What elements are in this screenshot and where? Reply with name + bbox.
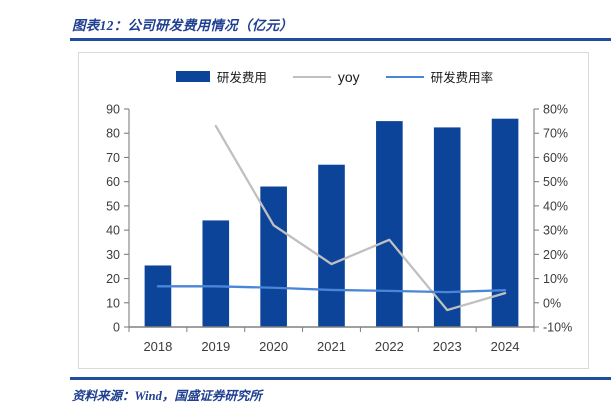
svg-text:50: 50 bbox=[106, 199, 120, 213]
bar-2021 bbox=[318, 165, 345, 327]
chart-frame: 研发费用 yoy 研发费用率 9080706050403020100 80%70… bbox=[78, 52, 589, 369]
svg-text:0%: 0% bbox=[543, 296, 561, 310]
svg-text:10: 10 bbox=[106, 296, 120, 310]
svg-text:80: 80 bbox=[106, 127, 120, 141]
svg-text:80%: 80% bbox=[543, 103, 568, 117]
chart-svg: 9080706050403020100 80%70%60%50%40%30%20… bbox=[79, 53, 590, 370]
line-yoy bbox=[216, 126, 505, 310]
svg-text:2024: 2024 bbox=[491, 339, 520, 354]
svg-text:30%: 30% bbox=[543, 224, 568, 238]
svg-text:2019: 2019 bbox=[201, 339, 230, 354]
svg-text:0: 0 bbox=[113, 321, 120, 335]
x-axis-ticks: 2018201920202021202220232024 bbox=[143, 339, 519, 354]
svg-text:2022: 2022 bbox=[375, 339, 404, 354]
title-divider bbox=[70, 38, 611, 41]
svg-text:-10%: -10% bbox=[543, 321, 572, 335]
svg-text:60: 60 bbox=[106, 175, 120, 189]
plot-area: 9080706050403020100 80%70%60%50%40%30%20… bbox=[79, 53, 590, 370]
svg-text:50%: 50% bbox=[543, 175, 568, 189]
svg-text:70%: 70% bbox=[543, 127, 568, 141]
svg-text:60%: 60% bbox=[543, 151, 568, 165]
svg-text:40: 40 bbox=[106, 224, 120, 238]
svg-text:2021: 2021 bbox=[317, 339, 346, 354]
svg-text:90: 90 bbox=[106, 103, 120, 117]
source-note: 资料来源：Wind，国盛证券研究所 bbox=[72, 385, 262, 404]
figure-panel: 图表12：公司研发费用情况（亿元） 研发费用 yoy 研发费用率 9080706… bbox=[0, 0, 611, 409]
source-divider bbox=[70, 377, 611, 380]
bar-series bbox=[145, 119, 519, 327]
svg-text:40%: 40% bbox=[543, 199, 568, 213]
left-axis-ticks: 9080706050403020100 bbox=[106, 103, 120, 335]
left-gutter bbox=[0, 0, 62, 409]
bar-2019 bbox=[202, 220, 229, 327]
bar-2022 bbox=[376, 121, 403, 327]
bar-2018 bbox=[145, 265, 172, 327]
svg-text:20: 20 bbox=[106, 272, 120, 286]
svg-text:10%: 10% bbox=[543, 272, 568, 286]
svg-text:30: 30 bbox=[106, 248, 120, 262]
svg-text:2023: 2023 bbox=[433, 339, 462, 354]
svg-text:2020: 2020 bbox=[259, 339, 288, 354]
svg-text:70: 70 bbox=[106, 151, 120, 165]
figure-title: 图表12：公司研发费用情况（亿元） bbox=[72, 14, 293, 34]
right-axis-ticks: 80%70%60%50%40%30%20%10%0%-10% bbox=[543, 103, 572, 335]
svg-text:2018: 2018 bbox=[143, 339, 172, 354]
svg-text:20%: 20% bbox=[543, 248, 568, 262]
